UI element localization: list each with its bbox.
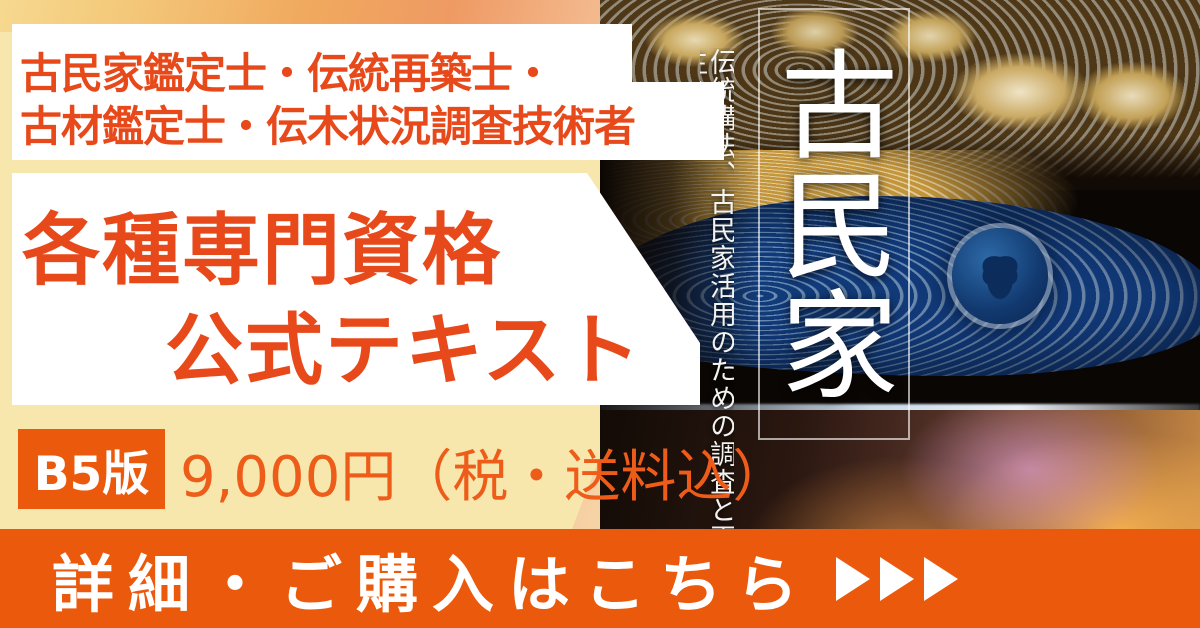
headline-line-2: 公式テキスト <box>165 288 643 400</box>
triangle-right-icon <box>880 557 914 601</box>
promotional-banner: 古民家 伝統構法、古民家活用のための調査と再生の 古民家鑑定士・伝統再築士・ 古… <box>0 0 1200 628</box>
triangle-right-icon <box>924 557 958 601</box>
cta-arrow-group <box>836 557 958 601</box>
cta-bar[interactable]: 詳細・ご購入はこちら <box>0 529 1200 628</box>
headline-line-1: 各種専門資格 <box>22 188 502 300</box>
cta-label: 詳細・ご購入はこちら <box>52 534 812 624</box>
format-badge-b5: B5版 <box>18 429 165 509</box>
family-crest-icon <box>952 228 1048 324</box>
price-label: 9,000円（税・送料込） <box>180 432 788 513</box>
certification-line-2: 古材鑑定士・伝木状況調査技術者 <box>20 93 635 154</box>
crest-center-petal <box>987 259 1013 299</box>
triangle-right-icon <box>836 557 870 601</box>
book-cover-title: 古民家 <box>770 14 898 434</box>
certification-line-1: 古民家鑑定士・伝統再築士・ <box>20 40 553 101</box>
